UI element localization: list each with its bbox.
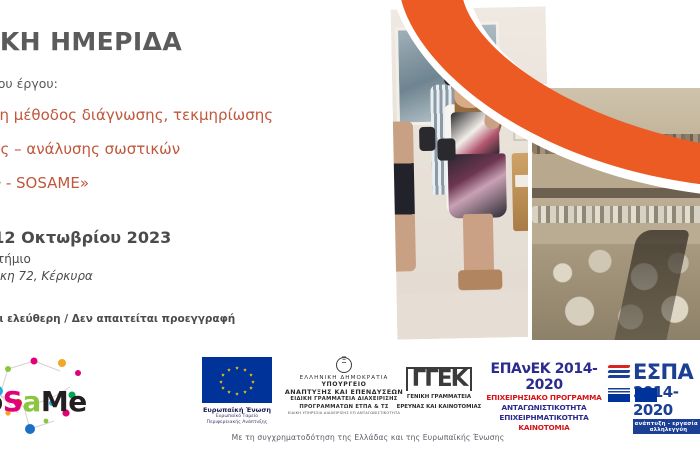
espa-flags <box>608 387 657 406</box>
espa-tagline: ανάπτυξη - εργασία - αλληλεγγύη <box>633 419 700 434</box>
epanek-title-row: ΕΠΑνΕΚ 2014-2020 <box>486 361 602 393</box>
project-title-line-1: ωτότυπη μέθοδος διάγνωσης, τεκμηρίωσης <box>0 106 412 124</box>
ggek-line-2: ΕΡΕΥΝΑΣ ΚΑΙ ΚΑΙΝΟΤΟΜΙΑΣ <box>396 403 482 411</box>
hellenic-republic-seal-icon <box>336 357 352 373</box>
bystander-silhouette <box>391 121 416 272</box>
eu-label-union: Ευρωπαϊκή Ένωση <box>200 406 274 414</box>
excavation-trench <box>532 188 700 198</box>
espa-wordmark: ΕΣΠΑ <box>633 363 693 383</box>
ggek-logo: ΓΓΕΚ ΓΕΝΙΚΗ ΓΡΑΜΜΑΤΕΙΑ ΕΡΕΥΝΑΣ ΚΑΙ ΚΑΙΝΟ… <box>396 367 482 411</box>
sosame-letter-m: M <box>41 385 68 418</box>
sosame-letter-s1: S <box>3 385 23 418</box>
poster-kicker: αίσιο του έργου: <box>0 76 354 91</box>
project-title-line-3: σκαφών - SOSAME» <box>0 174 412 192</box>
ministry-line-3: ΑΝΑΠΤΥΞΗΣ ΚΑΙ ΕΠΕΝΔΥΣΕΩΝ <box>280 388 408 396</box>
epanek-line-4: ΚΑΙΝΟΤΟΜΙΑ <box>486 423 602 433</box>
ministry-line-6: ΕΙΔΙΚΗ ΥΠΗΡΕΣΙΑ ΔΙΑΧΕΙΡΙΣΗΣ ΕΠ ΑΝΤΑΓΩΝΙΣ… <box>280 411 408 415</box>
woman-face <box>454 84 486 109</box>
poster-title: ΡΙΔΙΚΗ ΗΜΕΡΙΔΑ <box>0 27 382 56</box>
event-venue-line-1: Πανεπιστήμιο <box>0 252 348 266</box>
event-venue-line-2: ου Θεοτόκη 72, Κέρκυρα <box>0 269 344 283</box>
ministry-line-4: ΕΙΔΙΚΗ ΓΡΑΜΜΑΤΕΙΑ ΔΙΑΧΕΙΡΙΣΗΣ <box>280 396 408 404</box>
archaeological-excavation-photo <box>532 88 700 340</box>
eu-label-regional: Περιφερειακής Ανάπτυξης <box>200 420 274 426</box>
sosame-wordmark: oSaMe <box>0 385 87 418</box>
espa-logo: ΕΣΠΑ 2014-2020 ανάπτυξη - εργασία - αλλη… <box>608 361 700 434</box>
vr-controller-left <box>419 127 435 151</box>
interior-scene <box>391 6 553 339</box>
stone-wall-lower <box>532 206 700 223</box>
ggek-wordmark: ΓΓΕΚ <box>406 367 473 391</box>
epanek-line-3: ΕΠΙΧΕΙΡΗΜΑΤΙΚΟΤΗΤΑ <box>486 413 602 423</box>
vr-controller-right <box>437 138 455 160</box>
vr-headset-visitor-photo <box>391 6 553 339</box>
cofunding-note: Με τη συγχρηματοδότηση της Ελλάδας και τ… <box>0 433 700 442</box>
ministry-line-5: ΠΡΟΓΡΑΜΜΑΤΩΝ ΕΤΠΑ & ΤΣ <box>280 404 408 412</box>
epanek-line-1: ΕΠΙΧΕΙΡΗΣΙΑΚΟ ΠΡΟΓΡΑΜΜΑ <box>486 393 602 403</box>
eu-flag-icon <box>202 357 272 403</box>
event-poster: ΡΙΔΙΚΗ ΗΜΕΡΙΔΑ αίσιο του έργου: ωτότυπη … <box>0 0 700 466</box>
poster-text-column: ΡΙΔΙΚΗ ΗΜΕΡΙΔΑ αίσιο του έργου: ωτότυπη … <box>0 0 400 340</box>
espa-greek-flag-icon <box>608 388 630 402</box>
espa-title-row: ΕΣΠΑ <box>608 361 700 383</box>
espa-eu-flag-icon <box>635 388 657 402</box>
project-title-line-2: νάδειξης – ανάλυσης σωστικών <box>0 140 412 158</box>
epanek-line-2: ΑΝΤΑΓΩΝΙΣΤΙΚΟΤΗΤΑ <box>486 403 602 413</box>
soil-band <box>532 154 700 188</box>
sosame-letter-e: e <box>68 385 87 418</box>
espa-waves-icon <box>608 361 630 383</box>
excavation-scene <box>532 88 700 340</box>
floor <box>397 290 553 339</box>
sosame-logo: oSaMe <box>0 351 113 446</box>
sosame-letter-a: a <box>22 385 40 418</box>
funding-logo-strip: oSaMe Ευρωπαϊκή Ένωση Ευρωπαϊκό Ταμείο <box>0 345 700 466</box>
poster-media-area <box>380 0 700 345</box>
free-entry-note: ος είναι ελεύθερη / Δεν απαιτείται προεγ… <box>0 313 358 325</box>
greek-ministry-logo: ΕΛΛΗΝΙΚΗ ΔΗΜΟΚΡΑΤΙΑ ΥΠΟΥΡΓΕΙΟ ΑΝΑΠΤΥΞΗΣ … <box>280 357 408 415</box>
woman-floral-skirt <box>448 153 507 218</box>
epanek-logo: ΕΠΑνΕΚ 2014-2020 ΕΠΙΧΕΙΡΗΣΙΑΚΟ ΠΡΟΓΡΑΜΜΑ… <box>486 361 602 432</box>
event-date: τη, 12 Οκτωβρίου 2023 <box>0 228 360 247</box>
ministry-line-2: ΥΠΟΥΡΓΕΙΟ <box>280 381 408 388</box>
woman-boots <box>458 269 502 290</box>
ggek-line-1: ΓΕΝΙΚΗ ΓΡΑΜΜΑΤΕΙΑ <box>396 393 482 401</box>
epanek-name: ΕΠΑνΕΚ <box>491 361 551 377</box>
